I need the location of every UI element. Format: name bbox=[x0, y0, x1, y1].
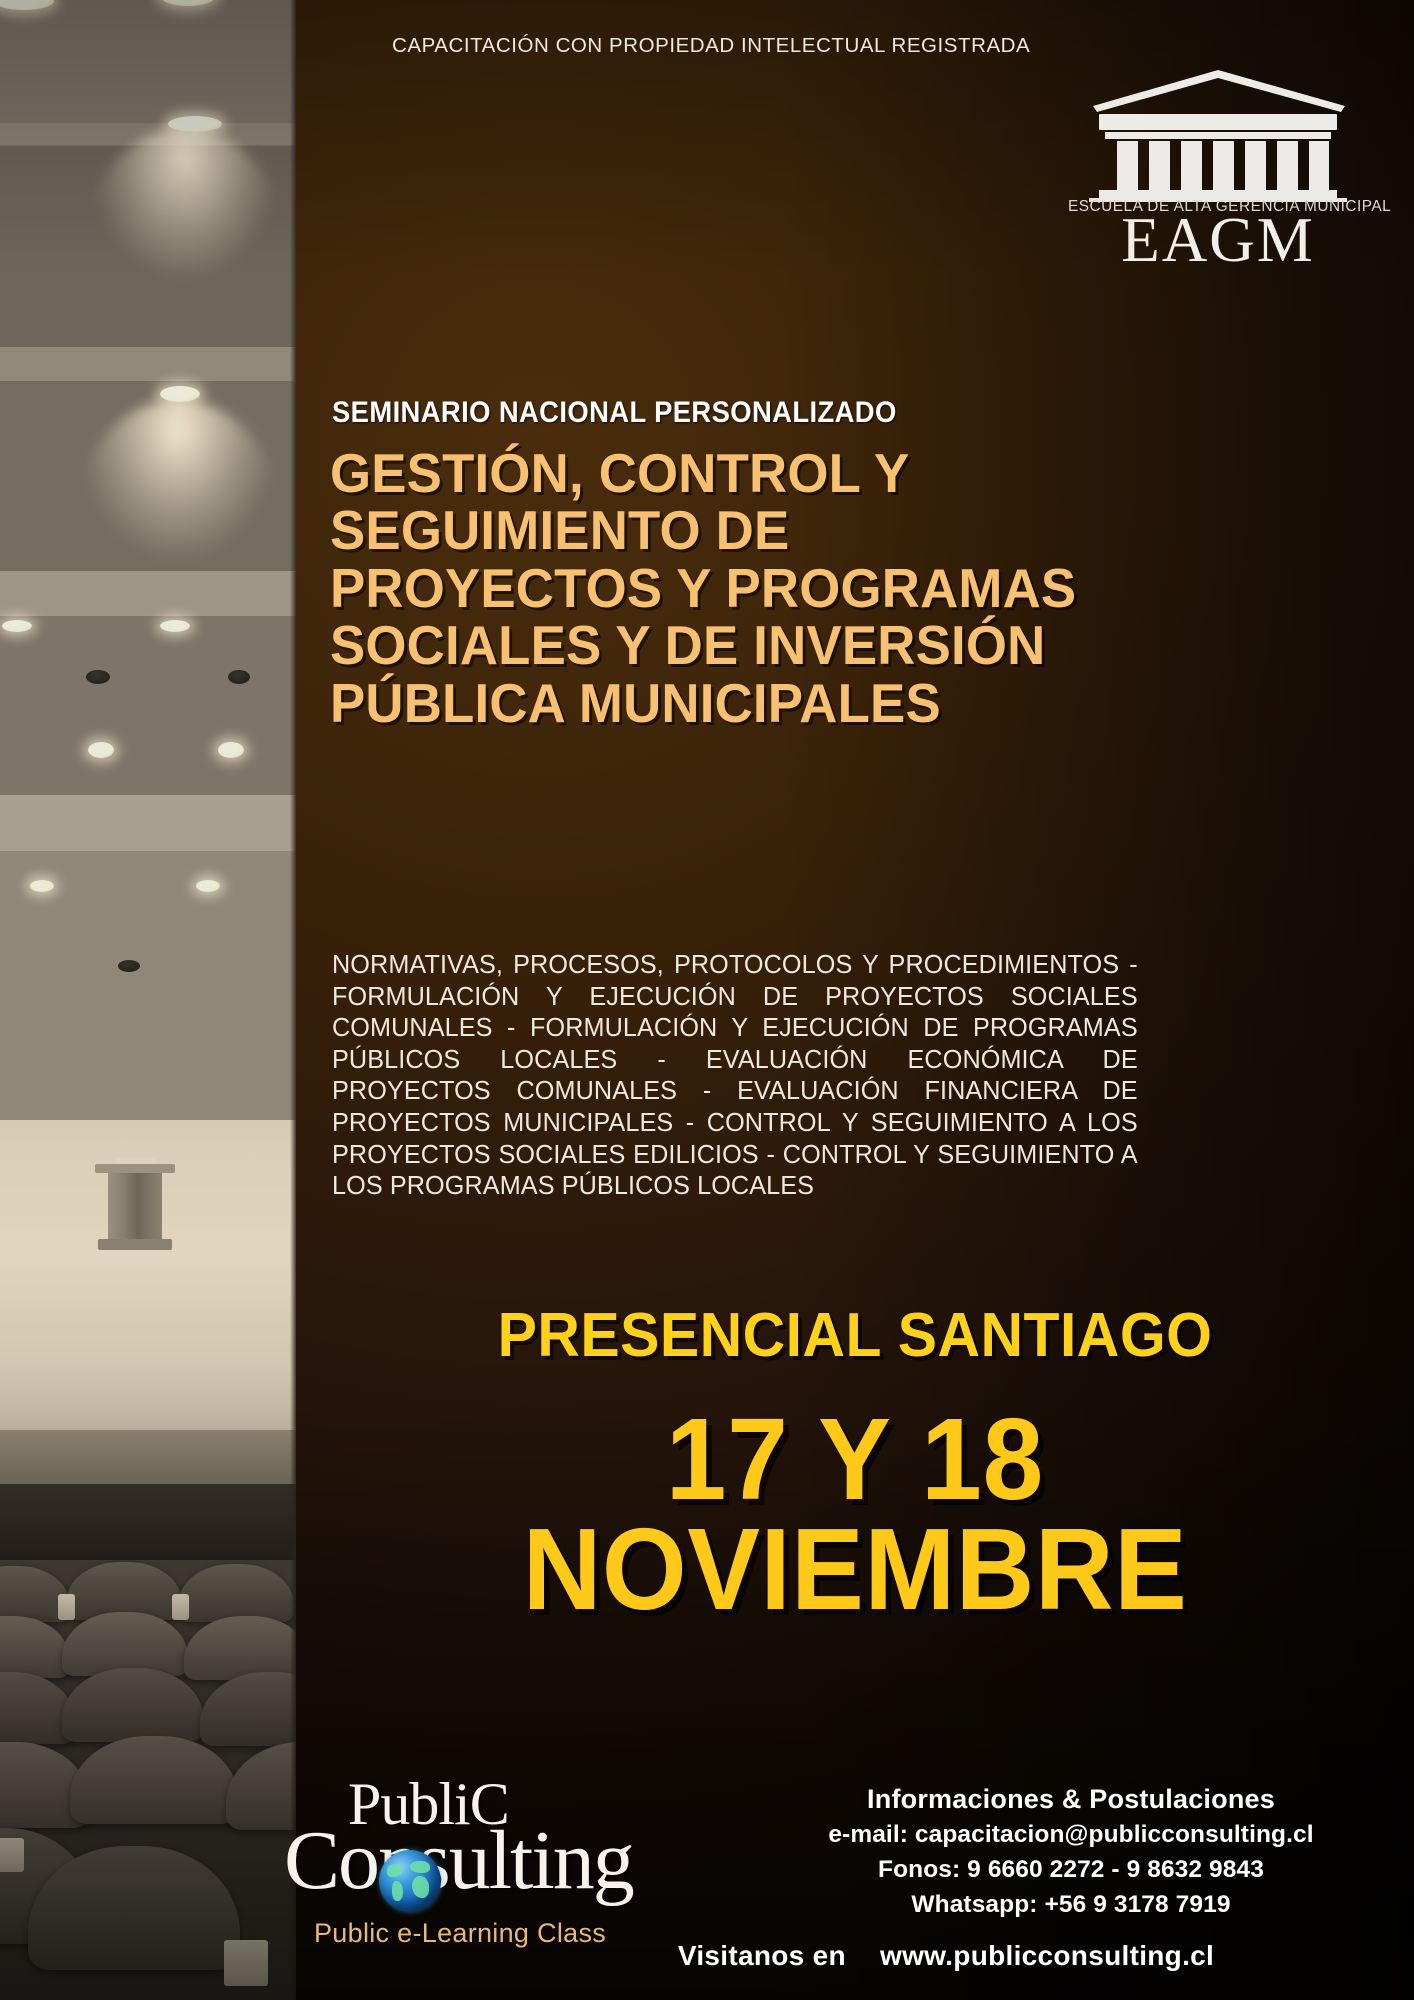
ceiling-lamp-icon bbox=[196, 880, 220, 892]
contact-block: Informaciones & Postulaciones e-mail: ca… bbox=[726, 1780, 1414, 1923]
globe-icon bbox=[379, 1850, 441, 1912]
seat bbox=[184, 1616, 296, 1680]
eagm-acronym: EAGM bbox=[1068, 212, 1368, 270]
ceiling-lamp-icon bbox=[88, 742, 114, 758]
ceiling-lamp-icon bbox=[160, 620, 190, 632]
contact-heading: Informaciones & Postulaciones bbox=[726, 1780, 1414, 1818]
footer-visit: Visitanos en www.publicconsulting.cl bbox=[476, 1940, 1414, 1972]
ceiling-lamp-icon bbox=[30, 880, 54, 892]
ceiling-light-pool bbox=[90, 128, 280, 278]
seat bbox=[200, 1672, 296, 1746]
eagm-logo: ESCUELA DE ALTA GERENCIA MUNICIPAL EAGM bbox=[1068, 62, 1368, 270]
ceiling-lamp-icon bbox=[0, 0, 54, 10]
seminar-kicker: SEMINARIO NACIONAL PERSONALIZADO bbox=[332, 396, 1289, 430]
greek-temple-icon bbox=[1083, 62, 1353, 202]
seat-armrest bbox=[0, 1838, 24, 1872]
ceiling-lamp-icon bbox=[160, 0, 216, 6]
podium-base bbox=[98, 1239, 172, 1250]
ceiling-lamp-icon bbox=[2, 620, 32, 632]
page-title: GESTIÓN, CONTROL Y SEGUIMIENTO DE PROYEC… bbox=[330, 445, 1117, 732]
ceiling-light-pool bbox=[78, 400, 278, 560]
podium bbox=[104, 1164, 166, 1248]
seat bbox=[0, 1616, 70, 1678]
seat bbox=[70, 1736, 238, 1824]
contact-whatsapp[interactable]: Whatsapp: +56 9 3178 7919 bbox=[726, 1888, 1414, 1923]
seminar-description: NORMATIVAS, PROCESOS, PROTOCOLOS Y PROCE… bbox=[332, 950, 1138, 1203]
ceiling-lamp-icon bbox=[160, 386, 200, 402]
seat-armrest bbox=[58, 1594, 75, 1620]
registration-notice: CAPACITACIÓN CON PROPIEDAD INTELECTUAL R… bbox=[392, 34, 1030, 58]
seat bbox=[62, 1612, 188, 1676]
content-column: CAPACITACIÓN CON PROPIEDAD INTELECTUAL R… bbox=[296, 0, 1414, 2000]
sponsor-word-consulting: Consulting bbox=[284, 1812, 633, 1909]
event-month: NOVIEMBRE bbox=[330, 1502, 1381, 1636]
ceiling-lamp-off-icon bbox=[118, 960, 140, 972]
ceiling-lamp-off-icon bbox=[86, 670, 110, 684]
seat-armrest bbox=[224, 1940, 268, 1986]
podium-top bbox=[95, 1164, 175, 1173]
ceiling-lamp-icon bbox=[168, 116, 222, 132]
podium-body bbox=[108, 1173, 162, 1239]
seat bbox=[62, 1668, 204, 1742]
ceiling-region bbox=[0, 0, 296, 1120]
ceiling-lamp-off-icon bbox=[228, 670, 250, 684]
auditorium-seats bbox=[0, 1560, 296, 2000]
stage-shadow bbox=[0, 1484, 296, 1564]
event-modality: PRESENCIAL SANTIAGO bbox=[324, 1300, 1386, 1371]
website-link[interactable]: www.publicconsulting.cl bbox=[880, 1940, 1214, 1971]
ceiling-lamp-icon bbox=[218, 742, 244, 758]
seat bbox=[178, 1564, 294, 1622]
visit-label: Visitanos en bbox=[678, 1940, 846, 1971]
seat-armrest bbox=[172, 1594, 189, 1620]
public-consulting-logo: PubliC Consulting Public e-Learning Clas… bbox=[296, 1770, 716, 1950]
poster-root: CAPACITACIÓN CON PROPIEDAD INTELECTUAL R… bbox=[0, 0, 1414, 2000]
contact-phones[interactable]: Fonos: 9 6660 2272 - 9 8632 9843 bbox=[726, 1853, 1414, 1888]
contact-email[interactable]: e-mail: capacitacion@publicconsulting.cl bbox=[726, 1818, 1414, 1853]
auditorium-photo bbox=[0, 0, 296, 2000]
